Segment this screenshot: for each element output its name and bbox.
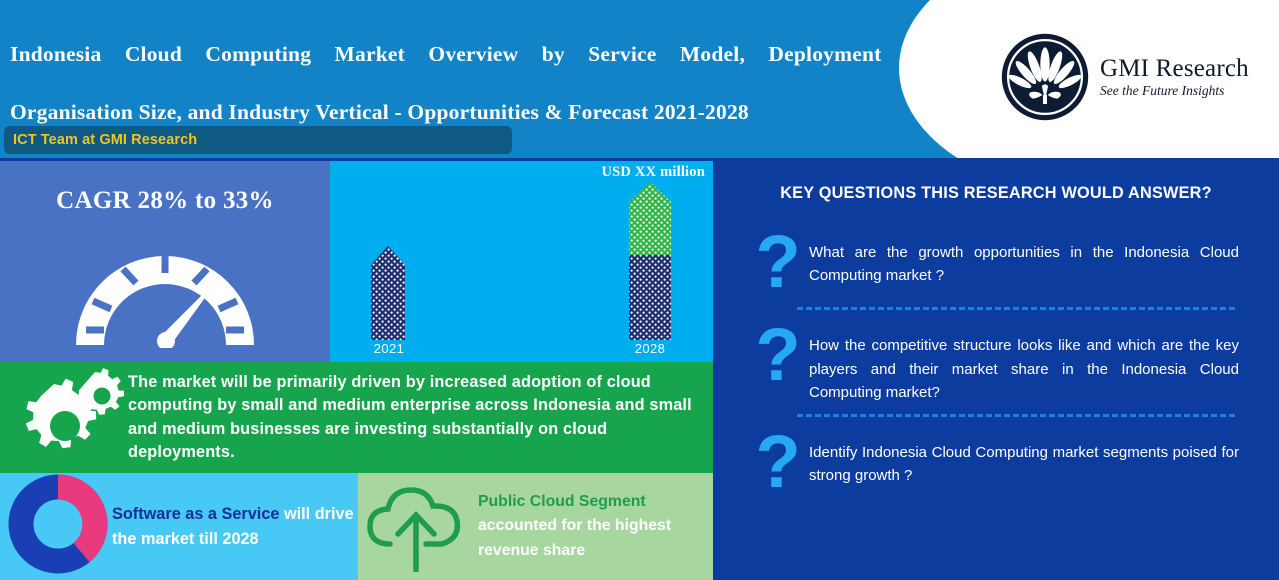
cagr-panel: CAGR 28% to 33% xyxy=(0,161,330,362)
gmi-fan-logo-icon xyxy=(1000,32,1090,122)
logo-wordmark: GMI Research See the Future Insights xyxy=(1100,56,1249,98)
key-question-item: ? How the competitive structure looks li… xyxy=(713,318,1279,404)
logo-company-name: GMI Research xyxy=(1100,56,1249,81)
bar-2028-base xyxy=(629,255,671,340)
key-question-text: What are the growth opportunities in the… xyxy=(809,225,1239,288)
bar-2028-growth xyxy=(629,182,671,255)
cagr-label: CAGR 28% to 33% xyxy=(0,187,330,215)
gauge-icon xyxy=(60,233,270,353)
page-title: Indonesia Cloud Computing Market Overvie… xyxy=(10,40,970,126)
key-questions-divider xyxy=(797,307,1235,310)
question-mark-icon: ? xyxy=(747,427,809,497)
market-size-chart: USD XX million xyxy=(330,161,713,362)
header-banner: Indonesia Cloud Computing Market Overvie… xyxy=(0,0,1279,158)
key-question-text: Identify Indonesia Cloud Computing marke… xyxy=(809,425,1239,488)
key-questions-divider xyxy=(797,414,1235,417)
saas-highlight: Software as a Service xyxy=(112,505,279,523)
gears-icon xyxy=(6,368,128,468)
key-questions-list: ? What are the growth opportunities in t… xyxy=(713,223,1279,497)
public-cloud-highlight: Public Cloud Segment xyxy=(478,493,646,510)
key-question-item: ? Identify Indonesia Cloud Computing mar… xyxy=(713,425,1279,497)
chart-tick-2028: 2028 xyxy=(625,341,675,356)
page-title-line-1: Indonesia Cloud Computing Market Overvie… xyxy=(10,40,970,98)
question-mark-icon: ? xyxy=(747,227,809,297)
key-question-item: ? What are the growth opportunities in t… xyxy=(713,225,1279,297)
market-driver-text: The market will be primarily driven by i… xyxy=(128,371,713,464)
market-driver-panel: The market will be primarily driven by i… xyxy=(0,362,713,473)
bar-2021 xyxy=(371,246,405,340)
question-mark-icon: ? xyxy=(747,320,809,390)
page-title-line-2: Organisation Size, and Industry Vertical… xyxy=(10,98,970,127)
public-cloud-body: accounted for the highest revenue share xyxy=(478,517,671,558)
saas-insight-panel: Software as a Service will drive the mar… xyxy=(0,473,358,580)
public-cloud-insight-panel: Public Cloud Segment accounted for the h… xyxy=(358,473,713,580)
key-questions-title: KEY QUESTIONS THIS RESEARCH WOULD ANSWER… xyxy=(713,184,1279,203)
byline-label: ICT Team at GMI Research xyxy=(13,132,197,148)
logo-tagline: See the Future Insights xyxy=(1100,84,1249,98)
chart-plot-area xyxy=(330,161,713,362)
cloud-upload-icon xyxy=(362,476,478,577)
saas-insight-text: Software as a Service will drive the mar… xyxy=(112,502,358,551)
donut-chart-icon xyxy=(8,474,112,579)
gmi-research-logo: GMI Research See the Future Insights xyxy=(1000,32,1249,122)
key-questions-panel: KEY QUESTIONS THIS RESEARCH WOULD ANSWER… xyxy=(713,161,1279,580)
infographic-page: Indonesia Cloud Computing Market Overvie… xyxy=(0,0,1279,580)
key-question-text: How the competitive structure looks like… xyxy=(809,318,1239,404)
public-cloud-insight-text: Public Cloud Segment accounted for the h… xyxy=(478,490,713,563)
byline-badge: ICT Team at GMI Research xyxy=(4,126,512,154)
chart-tick-2021: 2021 xyxy=(364,341,414,356)
